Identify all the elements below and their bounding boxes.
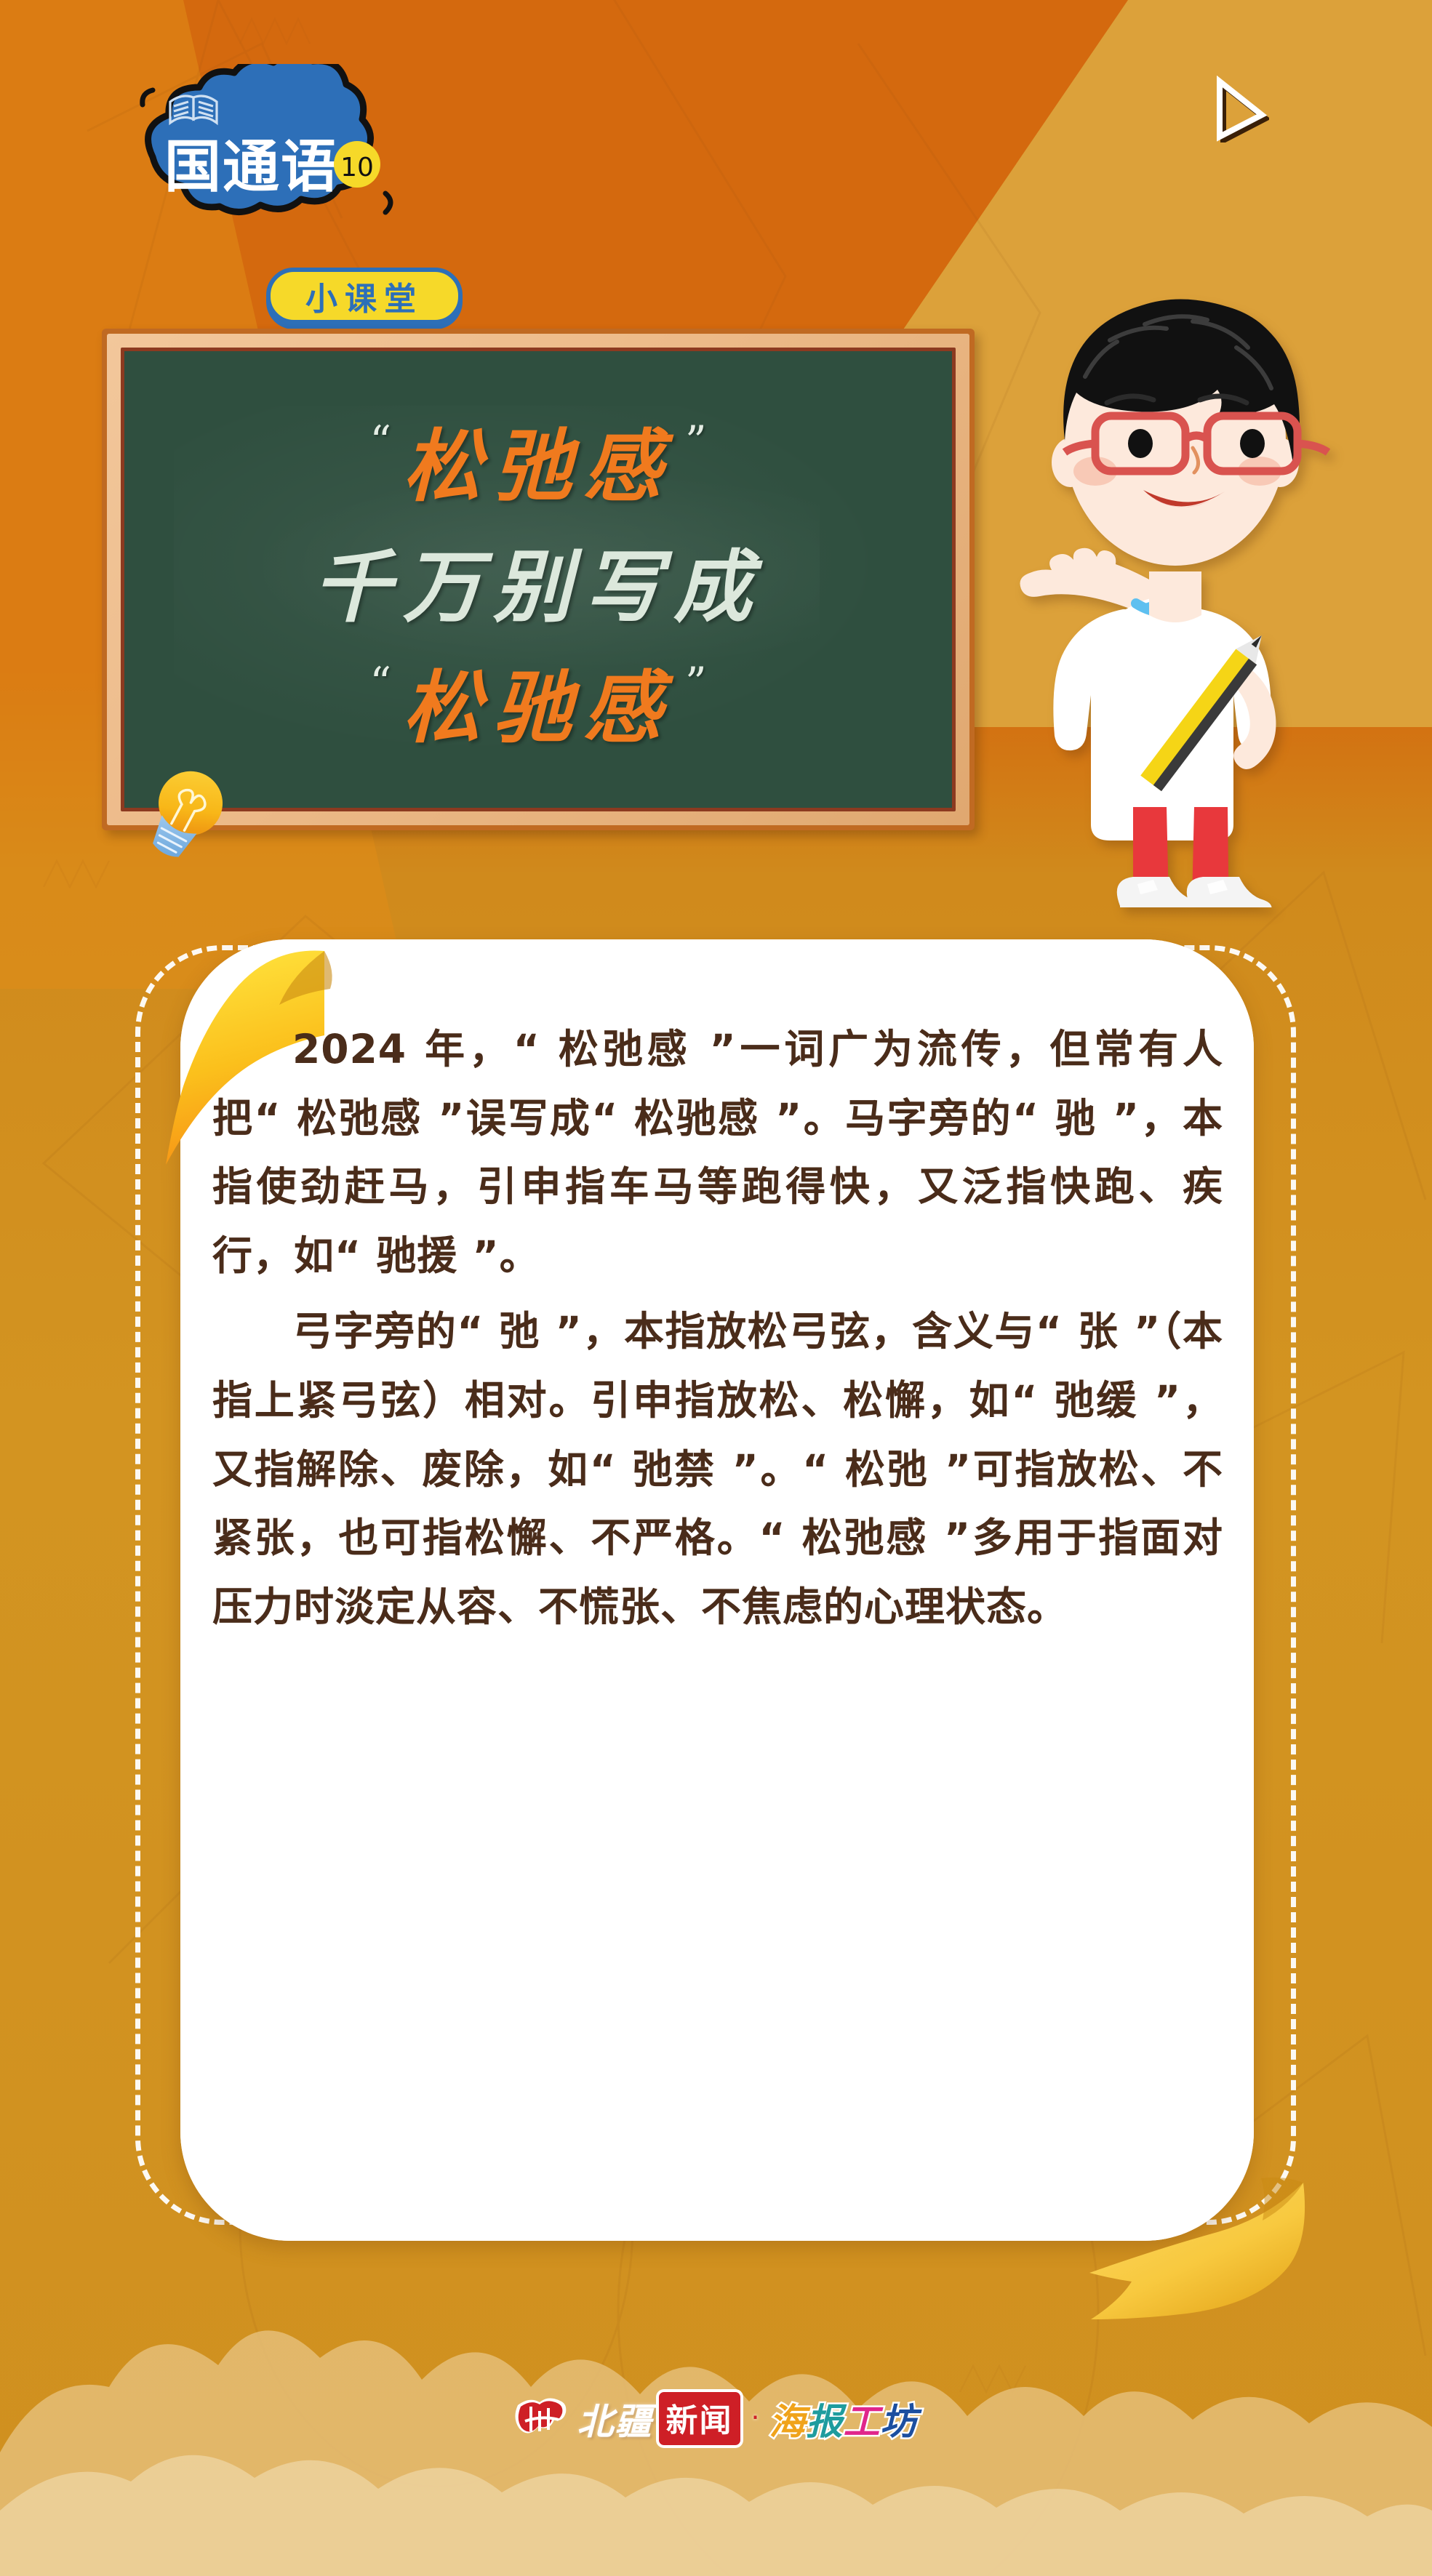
footer-separator: · bbox=[751, 2400, 761, 2431]
footer-workshop-char-1: 海 bbox=[769, 2393, 807, 2445]
footer-branding[interactable]: 北疆 新闻 · 海 报 工 坊 bbox=[0, 2392, 1432, 2445]
logo-subtitle-text: 小课堂 bbox=[305, 273, 423, 319]
quote-open-1: “ bbox=[369, 420, 391, 462]
blackboard-line-2: 千万别写成 bbox=[124, 524, 952, 638]
blackboard-word-1: 松弛感 bbox=[403, 404, 673, 517]
quote-close-1: ” bbox=[685, 420, 707, 462]
footer-brand-name: 北疆 bbox=[577, 2393, 653, 2445]
article-body: 2024 年，“ 松弛感 ”一词广为流传，但常有人把“ 松弛感 ”误写成“ 松驰… bbox=[212, 1015, 1223, 2207]
bei-flag-icon bbox=[515, 2395, 569, 2443]
article-paragraph-2: 弓字旁的“ 弛 ”，本指放松弓弦，含义与“ 张 ”（本指上紧弓弦）相对。引申指放… bbox=[212, 1297, 1223, 1641]
svg-text:10: 10 bbox=[340, 153, 374, 182]
article-paragraph-1: 2024 年，“ 松弛感 ”一词广为流传，但常有人把“ 松弛感 ”误写成“ 松驰… bbox=[212, 1015, 1223, 1290]
footer-workshop-char-4: 坊 bbox=[881, 2393, 918, 2445]
play-triangle-icon bbox=[1212, 76, 1269, 143]
blackboard: “ 松弛感 ” 千万别写成 “ 松驰感 ” bbox=[102, 329, 975, 830]
blackboard-word-3: 松驰感 bbox=[403, 645, 673, 758]
blackboard-line-3: “ 松驰感 ” bbox=[124, 645, 952, 758]
footer-workshop-char-2: 报 bbox=[807, 2393, 844, 2445]
poster-root: 国通语 10 小课堂 “ 松弛感 ” bbox=[0, 0, 1432, 2576]
footer-news-tag: 新闻 bbox=[659, 2392, 740, 2445]
boy-student-illustration bbox=[975, 231, 1353, 907]
quote-close-3: ” bbox=[685, 662, 707, 704]
logo-subtitle-badge: 小课堂 bbox=[266, 268, 463, 324]
lightbulb-icon bbox=[145, 762, 225, 871]
blackboard-word-2: 千万别写成 bbox=[313, 524, 764, 638]
program-logo[interactable]: 国通语 10 小课堂 bbox=[100, 64, 406, 253]
blackboard-line-1: “ 松弛感 ” bbox=[124, 404, 952, 517]
quote-open-3: “ bbox=[369, 662, 391, 704]
svg-text:国通语: 国通语 bbox=[164, 135, 339, 200]
footer-workshop-char-3: 工 bbox=[844, 2393, 881, 2445]
